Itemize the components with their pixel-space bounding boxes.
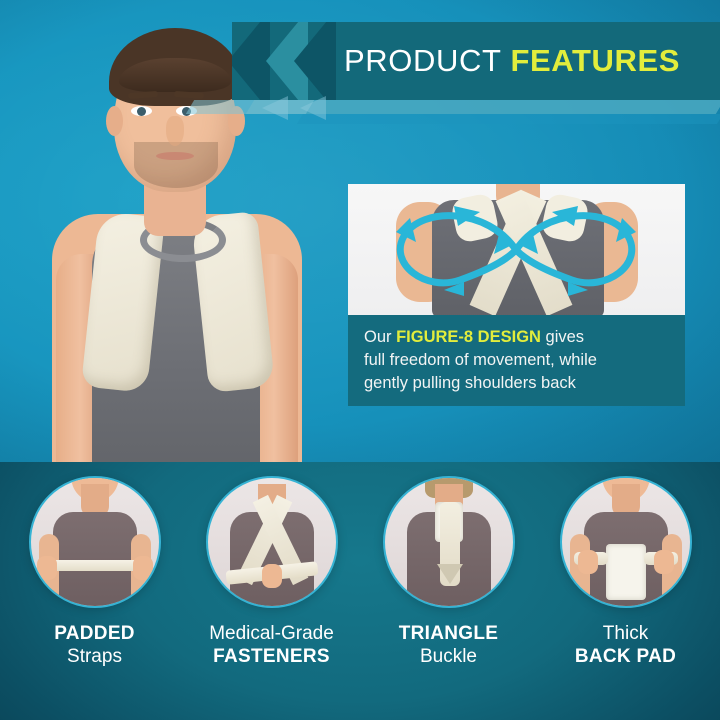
feature-image-fasteners (206, 476, 338, 608)
feature-label-top: Medical-Grade (209, 622, 334, 645)
feature-label: PADDED Straps (54, 622, 135, 668)
model-beard (134, 142, 218, 188)
model-mouth (156, 152, 194, 160)
feature-label-bottom: FASTENERS (209, 645, 334, 668)
model-nose (166, 116, 184, 146)
model-ear-left (106, 106, 123, 136)
figure8-photo (348, 184, 685, 315)
feature-label: TRIANGLE Buckle (399, 622, 499, 668)
page-title: PRODUCT FEATURES (344, 22, 680, 100)
feature-label: Thick BACK PAD (575, 622, 676, 668)
feature-triangle-buckle: TRIANGLE Buckle (364, 476, 534, 668)
caption-highlight: FIGURE-8 DESIGN (396, 328, 541, 346)
feature-label-top: Thick (575, 622, 676, 645)
figure-8-arrow-loop-icon (348, 184, 685, 315)
chevron-left-icon (232, 22, 270, 100)
circle-hand-right (133, 556, 153, 580)
feature-label-bottom: Buckle (399, 645, 499, 668)
feature-label-bottom: Straps (54, 645, 135, 668)
features-section: PADDED Straps Medical-Grade FASTENERS (0, 462, 720, 720)
header-band: PRODUCT FEATURES (232, 22, 720, 100)
feature-image-triangle-buckle (383, 476, 515, 608)
feature-image-back-pad (560, 476, 692, 608)
feature-label: Medical-Grade FASTENERS (209, 622, 334, 668)
features-row: PADDED Straps Medical-Grade FASTENERS (0, 462, 720, 720)
feature-medical-grade-fasteners: Medical-Grade FASTENERS (187, 476, 357, 668)
feature-label-top: TRIANGLE (399, 622, 499, 645)
caption-line1-pre: Our (364, 328, 396, 346)
model-pupil-left (137, 107, 146, 116)
circle-hand-right (654, 550, 674, 574)
triangle-buckle-icon (437, 564, 463, 584)
page-title-plain: PRODUCT (344, 43, 501, 79)
product-features-infographic: PRODUCT FEATURES (0, 0, 720, 720)
figure8-caption-panel: Our FIGURE-8 DESIGN gives full freedom o… (348, 315, 685, 406)
feature-label-top: PADDED (54, 622, 135, 645)
feature-thick-back-pad: Thick BACK PAD (541, 476, 711, 668)
chevron-left-icon (300, 96, 326, 120)
decorative-strip (186, 100, 314, 114)
caption-line-2: full freedom of movement, while (364, 349, 669, 372)
feature-label-bottom: BACK PAD (575, 645, 676, 668)
chevron-left-icon (262, 96, 288, 120)
circle-hand (262, 564, 282, 588)
feature-padded-straps: PADDED Straps (10, 476, 180, 668)
caption-line1-post: gives (541, 328, 584, 346)
caption-line-1: Our FIGURE-8 DESIGN gives (364, 326, 669, 349)
decorative-strip (297, 114, 720, 124)
figure8-inset-card: Our FIGURE-8 DESIGN gives full freedom o… (348, 184, 685, 406)
back-pad-icon (606, 544, 646, 600)
chevron-left-icon (294, 22, 336, 100)
feature-image-padded-straps (29, 476, 161, 608)
caption-line-3: gently pulling shoulders back (364, 372, 669, 395)
circle-hand-left (37, 556, 57, 580)
circle-hand-left (578, 550, 598, 574)
page-title-highlight: FEATURES (510, 43, 680, 79)
hero-section: PRODUCT FEATURES (0, 0, 720, 462)
